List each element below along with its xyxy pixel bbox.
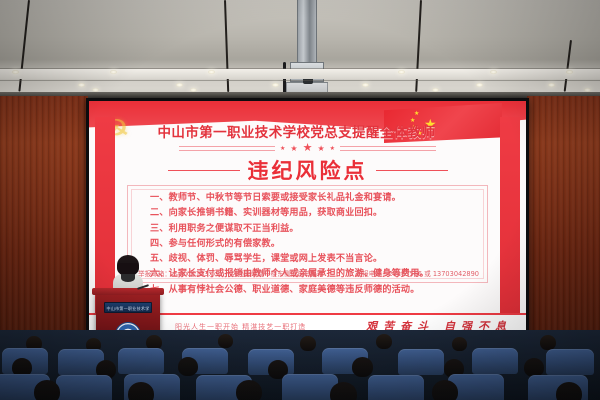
audience-head	[128, 382, 154, 400]
report-phone: 举报电话：28185566 或 13703042890	[356, 268, 479, 278]
decor-star: ★	[290, 145, 297, 153]
slide-content: 中山市第一职业技术学校党总支提醒全体教师 ★ ★ ★ ★ ★ 违纪风险点	[119, 115, 496, 309]
decor-star: ★	[317, 145, 324, 153]
auditorium-seat	[118, 348, 164, 374]
downlight	[272, 83, 279, 87]
clause-panel: 一、教师节、中秋节等节日索要或接受家长礼品礼金和宴请。 二、向家长推销书籍、实训…	[127, 185, 488, 283]
decor-star: ★	[330, 146, 335, 152]
wall-panel-right	[527, 96, 600, 356]
divider-line-left	[179, 146, 275, 151]
audience-head	[556, 382, 582, 400]
podium-sign: 中山市第一职业技术学校	[104, 302, 152, 313]
speaker-hair	[117, 255, 139, 275]
clause-item: 一、教师节、中秋节等节日索要或接受家长礼品礼金和宴请。	[150, 194, 477, 203]
ceiling-light-band	[0, 69, 600, 79]
auditorium-seat	[472, 348, 518, 374]
auditorium-seat	[398, 349, 444, 375]
downlight	[566, 70, 573, 74]
main-title-text: 违纪风险点	[248, 155, 368, 185]
auditorium-seat	[546, 349, 594, 375]
audience-head	[218, 334, 233, 348]
audience-head	[540, 335, 556, 350]
downlight	[490, 70, 497, 74]
audience-head	[432, 380, 458, 400]
contact-info: 举报邮箱：zsyzx@163.com，启亮办公楼一楼东侧信访举报箱 举报电话：2…	[138, 268, 479, 278]
downlight	[548, 83, 555, 87]
audience-area	[0, 330, 600, 400]
slide-main-title: 违纪风险点	[119, 155, 496, 185]
downlight	[110, 70, 117, 74]
title-rule-right	[376, 170, 448, 171]
decor-star: ★	[303, 143, 313, 154]
audience-head	[452, 337, 467, 351]
audience-head	[352, 357, 373, 377]
clause-item: 五、歧视、体罚、辱骂学生，课堂或网上发表不当言论。	[150, 255, 477, 264]
slide-org-title: 中山市第一职业技术学校党总支提醒全体教师	[137, 121, 456, 141]
audience-head	[236, 380, 262, 400]
slide-side-bar-right	[500, 117, 520, 313]
speaker-collar	[121, 274, 135, 282]
auditorium-seat	[368, 375, 424, 400]
downlight	[398, 70, 405, 74]
clause-item: 二、向家长推销书籍、实训器材等用品，获取商业回扣。	[150, 209, 477, 218]
report-email: 举报邮箱：zsyzx@163.com，启亮办公楼一楼东侧信访举报箱	[138, 268, 323, 278]
star-divider: ★ ★ ★ ★ ★	[179, 143, 436, 154]
downlight	[78, 83, 85, 87]
audience-head	[34, 380, 60, 400]
divider-line-right	[340, 146, 436, 151]
downlight	[176, 83, 183, 87]
ceiling	[0, 0, 600, 96]
downlight	[362, 83, 369, 87]
auditorium-seat	[56, 375, 112, 400]
clause-list: 一、教师节、中秋节等节日索要或接受家长礼品礼金和宴请。 二、向家长推销书籍、实训…	[150, 194, 477, 301]
clause-item: 四、参与任何形式的有偿家教。	[150, 240, 477, 249]
title-rule-left	[168, 170, 240, 171]
downlight	[12, 70, 19, 74]
podium-top	[92, 288, 164, 295]
decor-star: ★	[280, 146, 285, 152]
clause-item: 七、从事有悖社会公德、职业道德、家庭美德等违反师德的活动。	[150, 286, 477, 295]
downlight	[476, 83, 483, 87]
audience-head	[330, 382, 357, 400]
clause-item: 三、利用职务之便谋取不正当利益。	[150, 225, 477, 234]
downlight	[208, 70, 215, 74]
audience-head	[376, 334, 392, 349]
wall-panel-left	[0, 96, 88, 356]
audience-head	[300, 336, 316, 351]
auditorium-scene: ★ ★ ★ ★ ★ ☭ 中山市第一职业技术学校党总支提醒全体教师 ★ ★ ★ ★…	[0, 0, 600, 400]
ceiling-seam	[0, 80, 600, 81]
audience-head	[178, 357, 198, 376]
ceiling-wire	[564, 40, 572, 92]
